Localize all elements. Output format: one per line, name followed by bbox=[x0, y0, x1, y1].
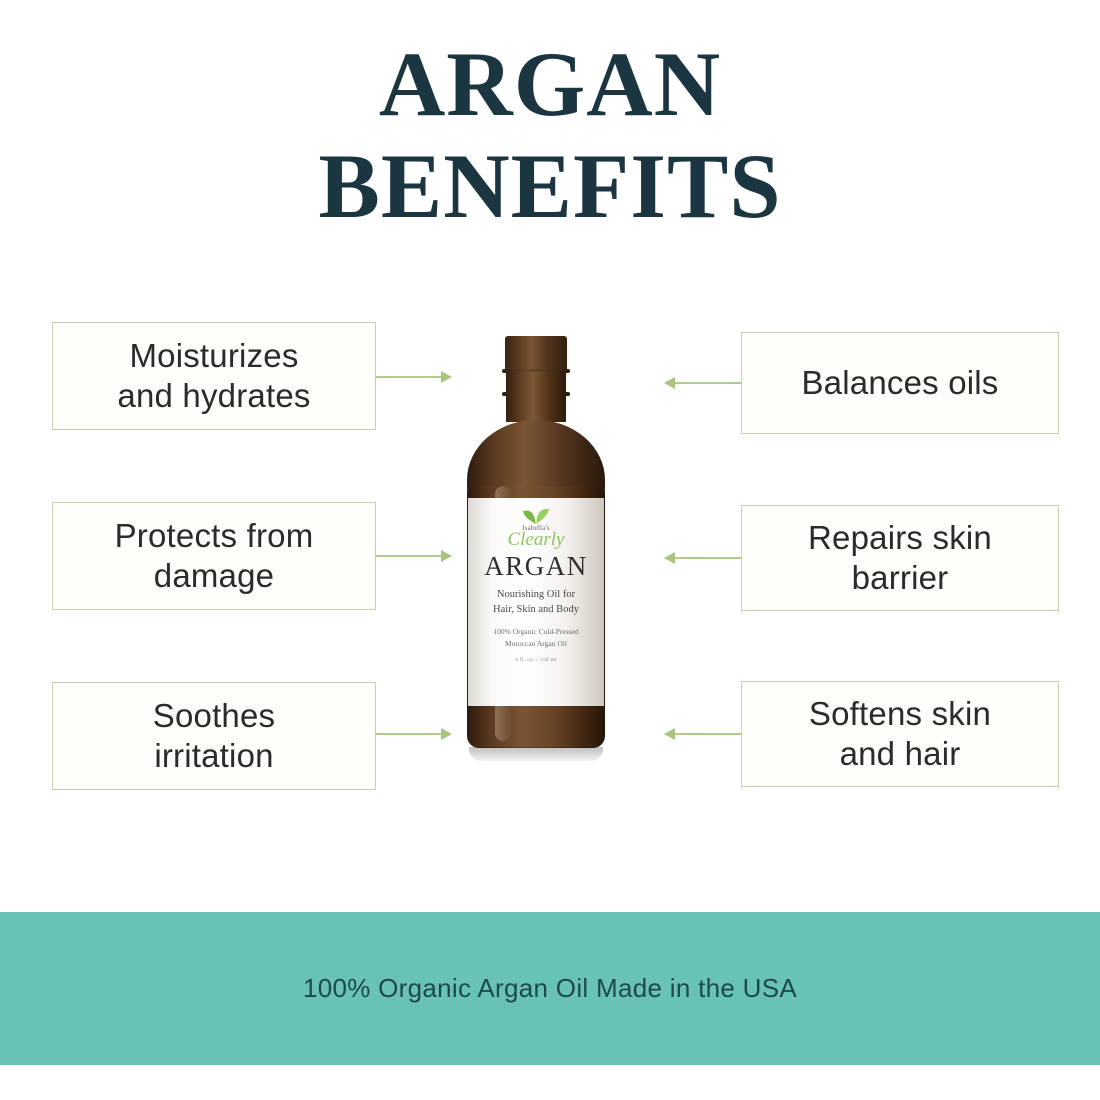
arrow-shaft bbox=[674, 557, 741, 559]
arrow-head bbox=[441, 550, 452, 562]
arrow-shaft bbox=[674, 733, 741, 735]
arrow-left-icon bbox=[664, 376, 741, 390]
product-claims-text: 100% Organic Cold-Pressed Moroccan Argan… bbox=[493, 626, 578, 650]
arrow-head bbox=[441, 371, 452, 383]
arrow-right-icon bbox=[376, 727, 452, 741]
product-volume-text: 4 fl. oz. / 118 ml bbox=[515, 657, 557, 663]
arrow-shaft bbox=[376, 733, 442, 735]
arrow-shaft bbox=[376, 376, 442, 378]
bottle-base-shadow bbox=[469, 747, 603, 761]
benefit-box-soothes[interactable]: Soothes irritation bbox=[52, 682, 376, 790]
arrow-head bbox=[664, 552, 675, 564]
bottle-cap bbox=[505, 336, 567, 372]
arrow-shaft bbox=[674, 382, 741, 384]
benefit-box-balances-oils[interactable]: Balances oils bbox=[741, 332, 1059, 434]
benefit-label: Softens skin and hair bbox=[809, 694, 991, 775]
product-description-text: Nourishing Oil for Hair, Skin and Body bbox=[493, 587, 579, 617]
product-name-text: ARGAN bbox=[484, 553, 588, 580]
bottle-neck bbox=[506, 372, 566, 422]
arrow-left-icon bbox=[664, 551, 741, 565]
brand-name-text: Clearly bbox=[508, 530, 565, 549]
arrow-head bbox=[664, 728, 675, 740]
benefit-label: Soothes irritation bbox=[153, 696, 276, 777]
bottle-label: Isabella's Clearly ARGAN Nourishing Oil … bbox=[468, 498, 604, 706]
benefit-label: Repairs skin barrier bbox=[808, 518, 992, 599]
arrow-left-icon bbox=[664, 727, 741, 741]
leaf-icon bbox=[519, 505, 553, 525]
footer-text: 100% Organic Argan Oil Made in the USA bbox=[303, 973, 797, 1004]
arrow-head bbox=[664, 377, 675, 389]
benefit-box-softens-skin-and-hair[interactable]: Softens skin and hair bbox=[741, 681, 1059, 787]
benefit-label: Moisturizes and hydrates bbox=[117, 336, 310, 417]
benefit-box-protects[interactable]: Protects from damage bbox=[52, 502, 376, 610]
benefit-box-repairs-skin-barrier[interactable]: Repairs skin barrier bbox=[741, 505, 1059, 611]
footer-banner: 100% Organic Argan Oil Made in the USA bbox=[0, 912, 1100, 1065]
arrow-head bbox=[441, 728, 452, 740]
bottle-shoulder bbox=[467, 420, 605, 496]
product-bottle-image: Isabella's Clearly ARGAN Nourishing Oil … bbox=[455, 336, 655, 761]
benefit-label: Balances oils bbox=[801, 363, 998, 403]
benefit-label: Protects from damage bbox=[115, 516, 314, 597]
arrow-right-icon bbox=[376, 549, 452, 563]
benefit-box-moisturizes[interactable]: Moisturizes and hydrates bbox=[52, 322, 376, 430]
arrow-shaft bbox=[376, 555, 442, 557]
arrow-right-icon bbox=[376, 370, 452, 384]
